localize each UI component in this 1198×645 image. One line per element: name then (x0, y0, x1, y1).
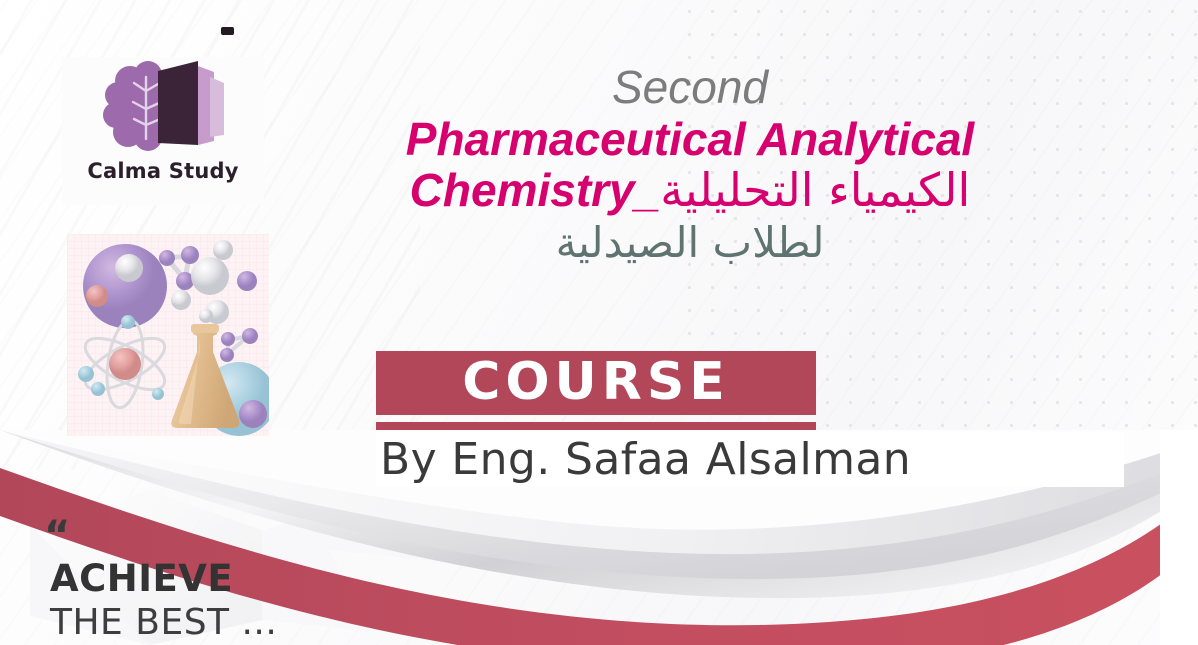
course-banner: COURSE (376, 351, 816, 430)
headline-audience-arabic: لطلاب الصيدلية (330, 219, 1050, 266)
top-crop-artifact (221, 27, 234, 35)
chemistry-illustration (67, 234, 269, 436)
headline-line-subject: Pharmaceutical Analytical (330, 114, 1050, 166)
chemistry-illustration-art (67, 234, 269, 436)
quote-mark-icon: “ (44, 525, 340, 547)
headline-chemistry-en: Chemistry_ (410, 164, 661, 216)
calma-study-logo-block: Calma Study (62, 57, 264, 205)
calma-study-logo-label: Calma Study (87, 159, 238, 183)
headline-line-chemistry-arabic: Chemistry_الكيمياء التحليلية (330, 165, 1050, 217)
course-banner-bar: COURSE (376, 351, 816, 415)
brain-book-icon (100, 57, 226, 157)
achieve-subline: THE BEST ... (50, 602, 340, 643)
headline-chemistry-ar: الكيمياء التحليلية (660, 163, 970, 217)
instructor-byline: By Eng. Safaa Alsalman (376, 432, 1124, 487)
course-banner-underline (376, 422, 816, 430)
slide-canvas: SE (0, 0, 1198, 645)
achieve-quote-block: “ ACHIEVE THE BEST ... (40, 525, 340, 643)
achieve-headline: ACHIEVE (50, 557, 340, 600)
headline-line-second: Second (330, 62, 1050, 114)
headline-block: Second Pharmaceutical Analytical Chemist… (330, 62, 1050, 266)
course-banner-label: COURSE (462, 352, 730, 412)
